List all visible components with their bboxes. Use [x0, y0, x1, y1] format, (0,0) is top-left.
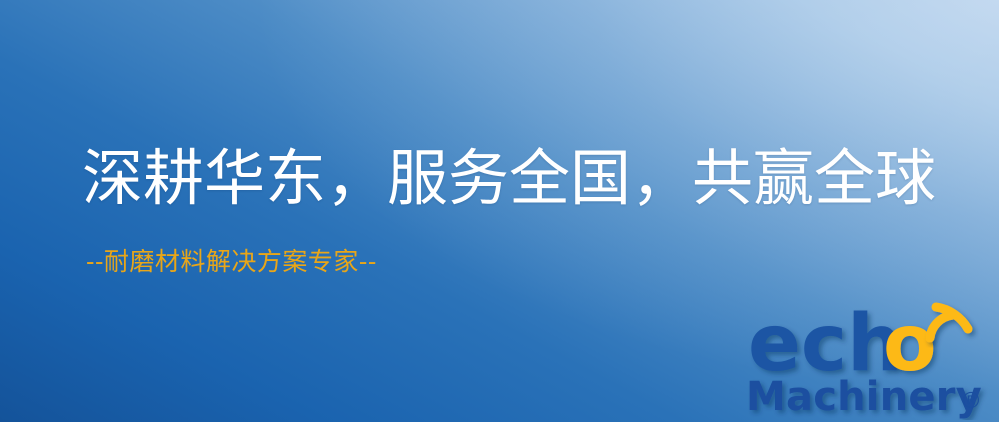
logo-artwork: ech o Machinery ®	[744, 298, 994, 420]
banner-text-block: 深耕华东，服务全国，共赢全球 --耐磨材料解决方案专家--	[82, 148, 936, 274]
banner-headline: 深耕华东，服务全国，共赢全球	[82, 148, 936, 209]
echo-machinery-logo[interactable]: ech o Machinery ®	[744, 298, 994, 420]
banner-subtitle: --耐磨材料解决方案专家--	[86, 249, 936, 274]
hero-banner: 深耕华东，服务全国，共赢全球 --耐磨材料解决方案专家-- ech o Mach…	[0, 0, 999, 422]
registered-trademark-icon: ®	[960, 389, 982, 414]
logo-wordmark-machinery: Machinery	[746, 374, 982, 420]
